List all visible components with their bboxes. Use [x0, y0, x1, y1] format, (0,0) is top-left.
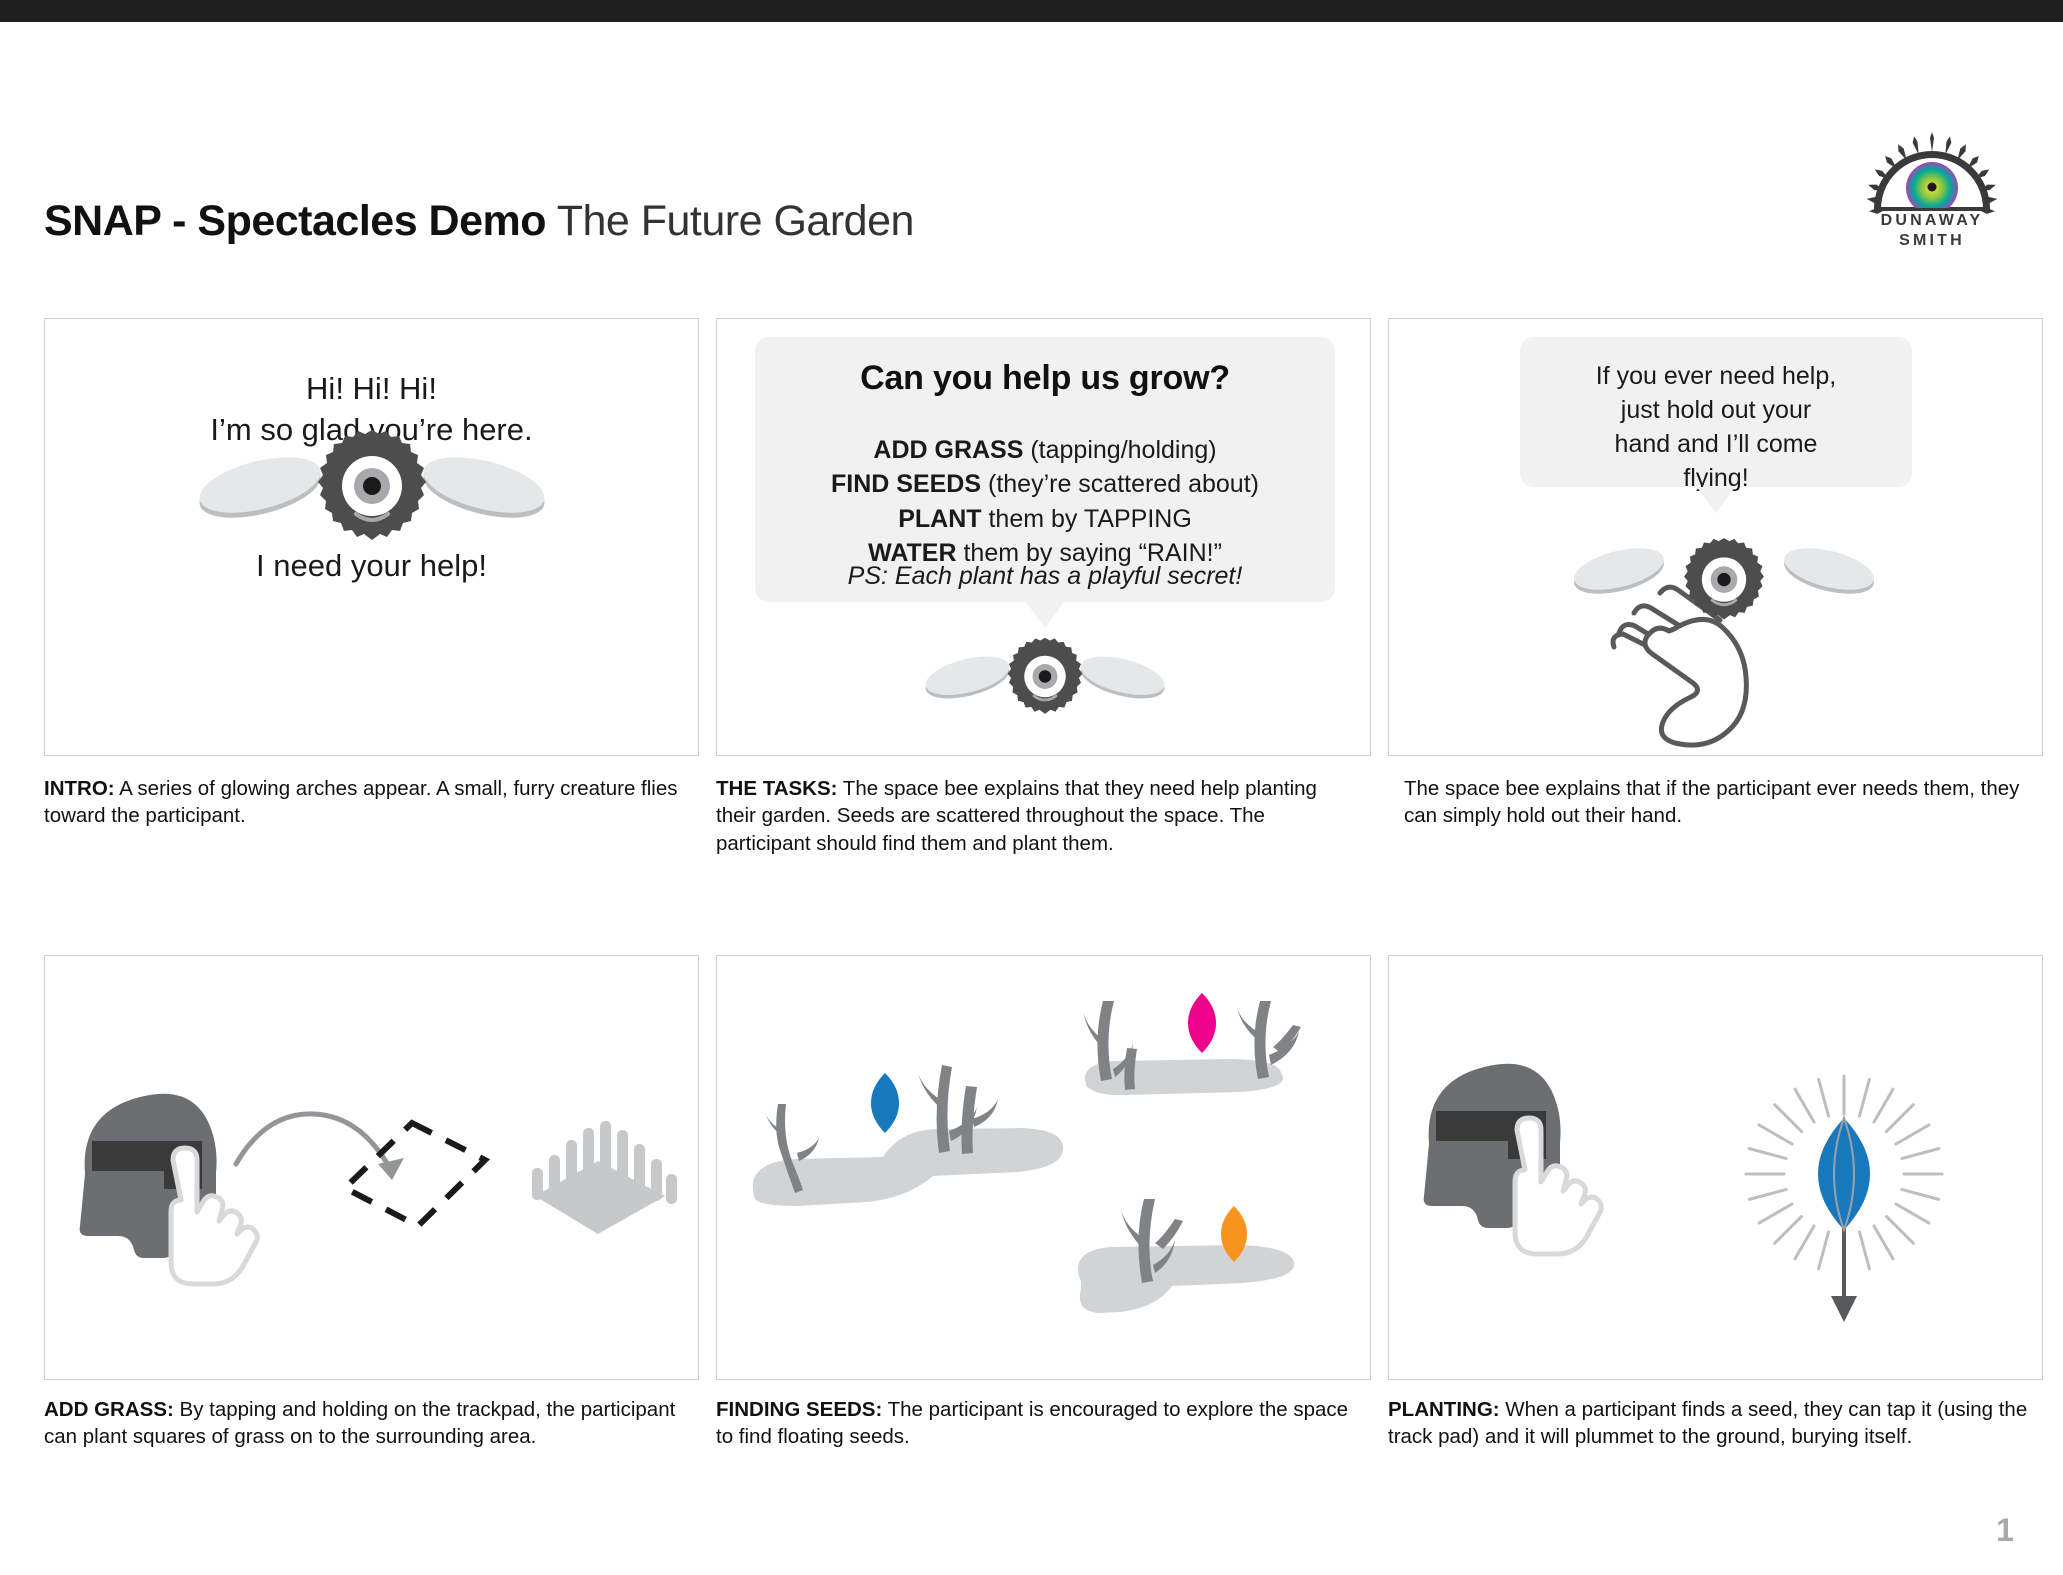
caption-label: PLANTING: — [1388, 1398, 1500, 1421]
seed-blue — [871, 1073, 899, 1133]
glowing-seed-blue — [1818, 1118, 1870, 1230]
arrow-head-down-icon — [1831, 1296, 1857, 1322]
caption-label: FINDING SEEDS: — [716, 1398, 882, 1421]
caption-text: A series of glowing arches appear. A sma… — [44, 777, 678, 827]
panel-intro-speech-bottom: I need your help! — [45, 546, 698, 587]
caption-the-tasks: THE TASKS: The space bee explains that t… — [716, 775, 1356, 857]
caption-add-grass: ADD GRASS: By tapping and holding on the… — [44, 1396, 699, 1451]
caption-text: The space bee explains that if the parti… — [1404, 777, 2019, 827]
tasks-bubble-list: ADD GRASS (tapping/holding) FIND SEEDS (… — [755, 433, 1335, 570]
caption-intro: INTRO: A series of glowing arches appear… — [44, 775, 694, 830]
panel-the-tasks: Can you help us grow? ADD GRASS (tapping… — [716, 318, 1371, 756]
help-line-1: If you ever need help, — [1520, 359, 1912, 393]
bee-wing-left — [1570, 540, 1668, 601]
grass-patch-icon — [532, 1121, 677, 1234]
arrow-head-icon — [378, 1158, 404, 1180]
caption-planting: PLANTING: When a participant finds a see… — [1388, 1396, 2038, 1451]
tasks-bubble-ps: PS: Each plant has a playful secret! — [755, 562, 1335, 591]
bee-wing-right — [1780, 540, 1878, 601]
floating-seeds-over-ground-patches — [737, 991, 1357, 1351]
task-item-bold: FIND SEEDS — [831, 470, 981, 498]
bee-wing-left — [194, 447, 326, 529]
head-tapping-and-glowing-seed-falling — [1404, 1026, 2029, 1356]
hand-with-space-bee-illustration — [1564, 529, 1894, 756]
help-bubble-text: If you ever need help, just hold out you… — [1520, 359, 1912, 495]
page-title: SNAP - Spectacles Demo The Future Garden — [44, 200, 914, 243]
bee-wing-right — [1077, 649, 1168, 705]
help-line-2: just hold out your — [1520, 393, 1912, 427]
tasks-speech-bubble: Can you help us grow? ADD GRASS (tapping… — [755, 337, 1335, 602]
task-item-bold: ADD GRASS — [873, 436, 1023, 464]
intro-line-1: Hi! Hi! Hi! — [45, 369, 698, 410]
task-item-rest: (tapping/holding) — [1023, 436, 1216, 464]
page-title-bold: SNAP - Spectacles Demo — [44, 197, 546, 245]
curved-arrow-icon — [236, 1114, 392, 1172]
caption-label: ADD GRASS: — [44, 1398, 174, 1421]
task-item-rest: them by TAPPING — [982, 505, 1192, 533]
page-number: 1 — [1985, 1512, 2025, 1549]
panel-hold-out-hand: If you ever need help, just hold out you… — [1388, 318, 2043, 756]
help-speech-bubble: If you ever need help, just hold out you… — [1520, 337, 1912, 487]
panel-intro: Hi! Hi! Hi! I’m so glad you’re here. I n… — [44, 318, 699, 756]
tasks-bubble-title: Can you help us grow? — [755, 359, 1335, 398]
ground-patch-bottom-right — [1078, 1245, 1294, 1313]
space-bee-illustration-small — [920, 637, 1170, 727]
caption-label: THE TASKS: — [716, 777, 837, 800]
panel-add-grass — [44, 955, 699, 1380]
bee-wing-right — [418, 447, 550, 529]
bee-body — [1008, 638, 1083, 714]
caption-finding-seeds: FINDING SEEDS: The participant is encour… — [716, 1396, 1361, 1451]
dunaway-smith-logo: DUNAWAY SMITH — [1852, 130, 2012, 255]
sun-eye-icon — [1852, 130, 2012, 220]
logo-text-line1: DUNAWAY — [1852, 212, 2012, 230]
task-item-bold: PLANT — [898, 505, 981, 533]
task-item: FIND SEEDS (they’re scattered about) — [755, 467, 1335, 501]
task-item: PLANT them by TAPPING — [755, 502, 1335, 536]
page-title-light: The Future Garden — [557, 197, 914, 245]
task-item-rest: (they’re scattered about) — [981, 470, 1259, 498]
ground-patch-top-right — [1085, 1059, 1283, 1095]
task-item: ADD GRASS (tapping/holding) — [755, 433, 1335, 467]
help-bubble-tail — [1697, 487, 1735, 513]
panel-finding-seeds — [716, 955, 1371, 1380]
panel-planting — [1388, 955, 2043, 1380]
top-black-bar — [0, 0, 2063, 22]
space-bee-illustration — [192, 429, 552, 559]
seed-magenta — [1188, 993, 1216, 1053]
bee-wing-left — [922, 649, 1013, 705]
tasks-bubble-tail — [1026, 602, 1064, 628]
head-tapping-trackpad-arrow-grass-patch — [60, 1056, 685, 1306]
ground-patch-left — [753, 1128, 1063, 1206]
caption-hold-out-hand: The space bee explains that if the parti… — [1404, 775, 2029, 830]
logo-text-line2: SMITH — [1852, 232, 2012, 250]
help-line-3: hand and I’ll come — [1520, 427, 1912, 461]
bee-body — [318, 430, 426, 540]
caption-label: INTRO: — [44, 777, 115, 800]
